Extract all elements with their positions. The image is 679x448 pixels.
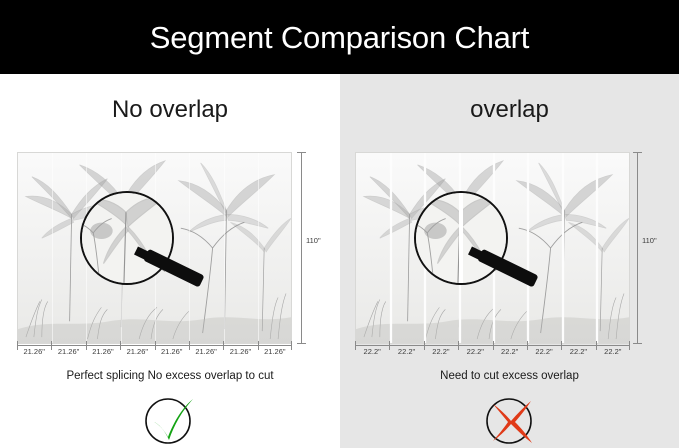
width-label: 22.2" [493, 348, 527, 356]
mural-canvas [355, 152, 630, 344]
height-dimension-line [637, 152, 638, 344]
width-label: 22.2" [527, 348, 561, 356]
width-label: 22.2" [458, 348, 492, 356]
title-banner: Segment Comparison Chart [0, 0, 679, 74]
height-dimension-line [301, 152, 302, 344]
width-label: 22.2" [561, 348, 595, 356]
cross-mark-icon [481, 394, 539, 448]
foliage-illustration [18, 153, 291, 343]
panel-heading-overlap: overlap [340, 98, 679, 122]
width-label: 21.26" [86, 348, 120, 356]
foliage-illustration [356, 153, 629, 343]
mural-image-overlap [355, 152, 630, 344]
verdict-overlap [340, 394, 679, 448]
width-dimension-labels: 21.26" 21.26" 21.26" 21.26" 21.26" 21.26… [17, 348, 292, 356]
width-label: 22.2" [424, 348, 458, 356]
height-dimension-label: 110" [306, 237, 321, 245]
caption-no-overlap: Perfect splicing No excess overlap to cu… [0, 371, 340, 383]
height-dimension-label: 110" [642, 237, 657, 245]
check-mark-icon [141, 394, 199, 448]
width-label: 21.26" [223, 348, 257, 356]
width-label: 21.26" [51, 348, 85, 356]
page-title: Segment Comparison Chart [150, 22, 529, 53]
width-dimension-line [355, 345, 630, 346]
mural-canvas [17, 152, 292, 344]
panel-overlap: overlap [340, 74, 679, 448]
width-dimension-line [17, 345, 292, 346]
caption-overlap: Need to cut excess overlap [340, 371, 679, 383]
width-label: 21.26" [189, 348, 223, 356]
panel-heading-no-overlap: No overlap [0, 98, 340, 122]
width-dimension-labels: 22.2" 22.2" 22.2" 22.2" 22.2" 22.2" 22.2… [355, 348, 630, 356]
width-label: 22.2" [389, 348, 423, 356]
panel-no-overlap: No overlap [0, 74, 340, 448]
mural-image-no-overlap [17, 152, 292, 344]
width-label: 21.26" [120, 348, 154, 356]
verdict-no-overlap [0, 394, 340, 448]
width-label: 21.26" [17, 348, 51, 356]
comparison-panels: No overlap [0, 74, 679, 448]
width-label: 22.2" [596, 348, 630, 356]
width-label: 22.2" [355, 348, 389, 356]
width-label: 21.26" [258, 348, 292, 356]
width-label: 21.26" [155, 348, 189, 356]
